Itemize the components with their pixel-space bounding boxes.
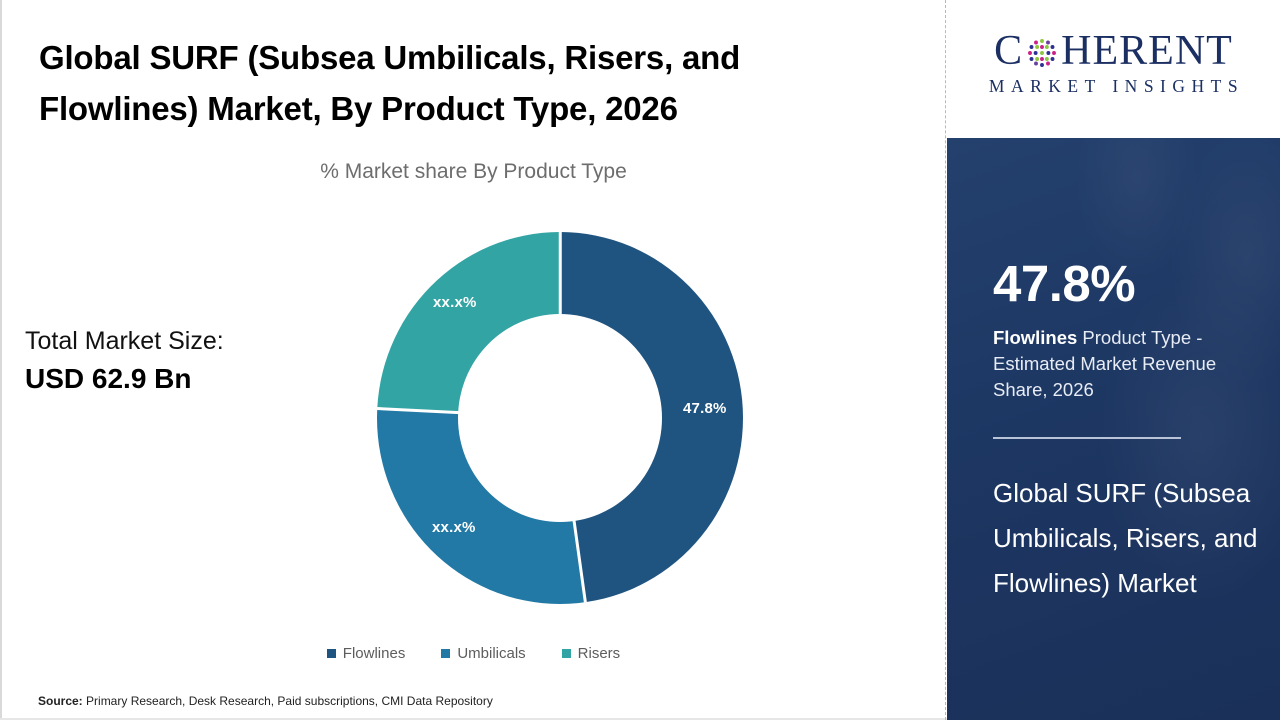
logo-lockup: C: [983, 30, 1244, 97]
brand-logo: C: [947, 0, 1280, 138]
slice-label-umbilicals: xx.x%: [432, 519, 476, 536]
highlight-percent: 47.8%: [993, 258, 1264, 309]
logo-word-rest: HERENT: [1061, 30, 1233, 72]
chart-legend: Flowlines Umbilicals Risers: [0, 645, 947, 662]
logo-letter-c: C: [994, 30, 1023, 72]
highlight-bold-term: Flowlines: [993, 327, 1077, 348]
total-market-size-block: Total Market Size: USD 62.9 Bn: [25, 323, 224, 399]
side-panel-content: 47.8% Flowlines Product Type - Estimated…: [947, 138, 1280, 720]
source-note: Source: Primary Research, Desk Research,…: [38, 694, 493, 708]
source-text: Primary Research, Desk Research, Paid su…: [83, 694, 493, 708]
panel-divider: [945, 0, 946, 720]
legend-swatch-icon: [327, 649, 336, 658]
legend-swatch-icon: [441, 649, 450, 658]
main-panel: Global SURF (Subsea Umbilicals, Risers, …: [0, 0, 947, 720]
legend-item-umbilicals[interactable]: Umbilicals: [441, 645, 525, 662]
logo-tagline: MARKET INSIGHTS: [983, 76, 1244, 97]
left-edge-rule: [0, 0, 2, 720]
market-name: Global SURF (Subsea Umbilicals, Risers, …: [993, 471, 1264, 606]
page-title: Global SURF (Subsea Umbilicals, Risers, …: [39, 32, 859, 134]
source-label: Source:: [38, 694, 83, 708]
chart-subtitle: % Market share By Product Type: [0, 160, 947, 184]
dotted-globe-icon: [1024, 35, 1060, 71]
total-market-size-label: Total Market Size:: [25, 323, 224, 359]
legend-item-risers[interactable]: Risers: [562, 645, 621, 662]
legend-label: Flowlines: [343, 645, 406, 662]
slide-root: Global SURF (Subsea Umbilicals, Risers, …: [0, 0, 1280, 720]
legend-label: Umbilicals: [457, 645, 525, 662]
slice-label-risers: xx.x%: [433, 294, 477, 311]
donut-chart: 47.8% xx.x% xx.x%: [377, 232, 743, 604]
slice-label-flowlines: 47.8%: [683, 400, 727, 417]
legend-swatch-icon: [562, 649, 571, 658]
donut-center-hole: [458, 314, 662, 522]
legend-item-flowlines[interactable]: Flowlines: [327, 645, 406, 662]
side-panel: C: [947, 0, 1280, 720]
highlight-description: Flowlines Product Type - Estimated Marke…: [993, 325, 1248, 403]
logo-wordmark: C: [994, 30, 1233, 72]
side-divider: [993, 437, 1181, 439]
legend-label: Risers: [578, 645, 621, 662]
total-market-size-value: USD 62.9 Bn: [25, 359, 224, 399]
